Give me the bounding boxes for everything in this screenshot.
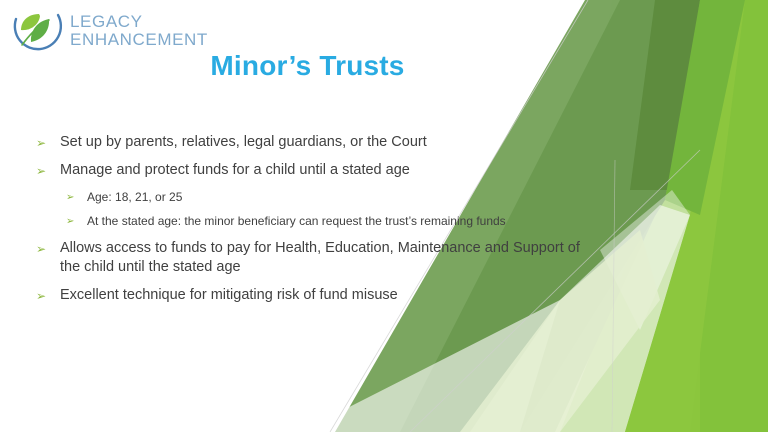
bullet-text: Excellent technique for mitigating risk … [60,286,596,305]
decor-shape-bright-1 [625,0,768,432]
decor-shape-mid-2 [665,0,745,215]
brand-logo-line-2: ENHANCEMENT [70,31,208,49]
bullet-text: Manage and protect funds for a child unt… [60,161,596,180]
slide-title: Minor’s Trusts [0,50,615,82]
bullet-marker-icon: ➢ [36,133,60,149]
bullet-text: At the stated age: the minor beneficiary… [87,214,596,230]
decor-shape-overlay-2 [600,190,690,330]
bullet-marker-icon: ➢ [36,161,60,177]
decor-shape-overlay-3 [300,300,560,432]
bullet-text: Age: 18, 21, or 25 [87,190,596,206]
bullet-item: ➢ Set up by parents, relatives, legal gu… [36,133,596,152]
decor-shape-dark-accent [630,0,700,190]
slide-canvas: LEGACY ENHANCEMENT Minor’s Trusts ➢ Set … [0,0,768,432]
decor-hairline-3 [612,160,615,432]
decor-shape-pale-front-2 [625,215,700,432]
slide-body-bullet-list: ➢ Set up by parents, relatives, legal gu… [36,133,596,315]
bullet-marker-icon: ➢ [66,190,87,203]
bullet-item: ➢ Manage and protect funds for a child u… [36,161,596,180]
bullet-marker-icon: ➢ [36,286,60,302]
brand-logo-line-1: LEGACY [70,13,208,31]
bullet-item: ➢ Excellent technique for mitigating ris… [36,286,596,305]
bullet-marker-icon: ➢ [66,214,87,227]
brand-logo-wordmark: LEGACY ENHANCEMENT [70,13,208,50]
bullet-marker-icon: ➢ [36,239,60,255]
bullet-text: Allows access to funds to pay for Health… [60,239,596,278]
bullet-item: ➢ At the stated age: the minor beneficia… [66,214,596,230]
bullet-item: ➢ Allows access to funds to pay for Heal… [36,239,596,278]
decor-shape-bright-2 [690,0,768,432]
bullet-item: ➢ Age: 18, 21, or 25 [66,190,596,206]
bullet-text: Set up by parents, relatives, legal guar… [60,133,596,152]
